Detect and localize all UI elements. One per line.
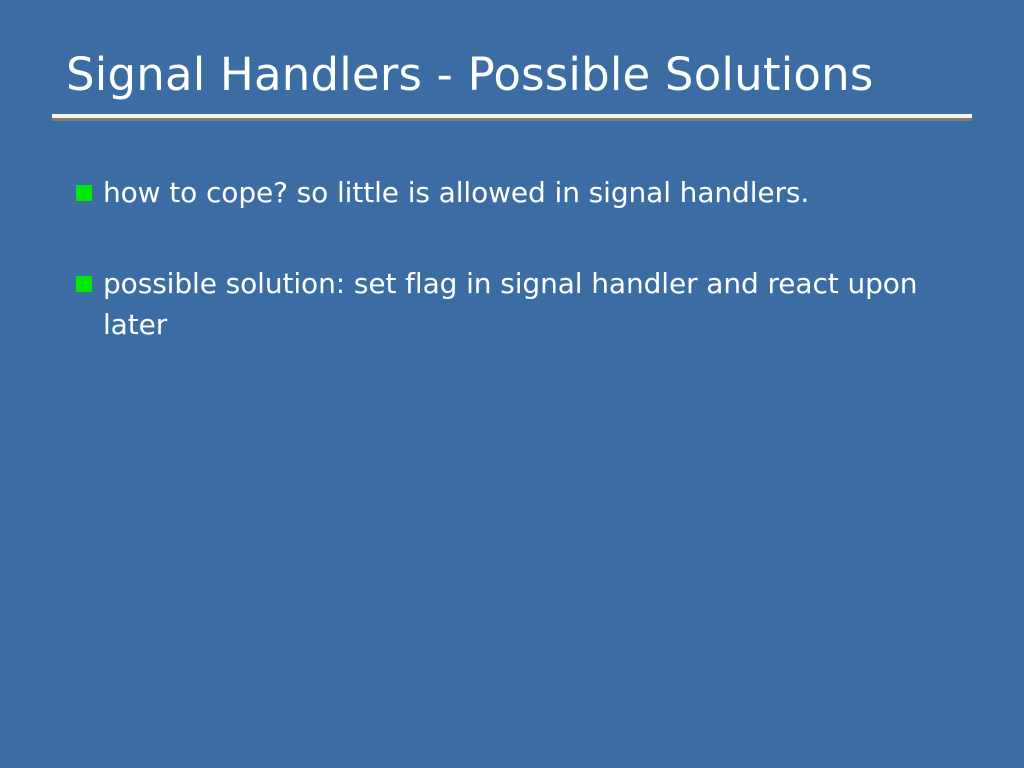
list-item: possible solution: set flag in signal ha…	[76, 263, 956, 345]
presentation-slide: Signal Handlers - Possible Solutions how…	[0, 0, 1024, 768]
list-item-label: possible solution: set flag in signal ha…	[103, 263, 939, 345]
title-divider	[52, 114, 972, 121]
list-item-label: how to cope? so little is allowed in sig…	[103, 172, 956, 213]
square-bullet-icon	[76, 276, 92, 292]
square-bullet-icon	[76, 185, 92, 201]
list-item: how to cope? so little is allowed in sig…	[76, 172, 956, 213]
slide-title-block: Signal Handlers - Possible Solutions	[52, 46, 972, 121]
title-divider-shadow	[52, 118, 972, 121]
page-title: Signal Handlers - Possible Solutions	[52, 46, 972, 104]
slide-body: how to cope? so little is allowed in sig…	[76, 172, 956, 395]
